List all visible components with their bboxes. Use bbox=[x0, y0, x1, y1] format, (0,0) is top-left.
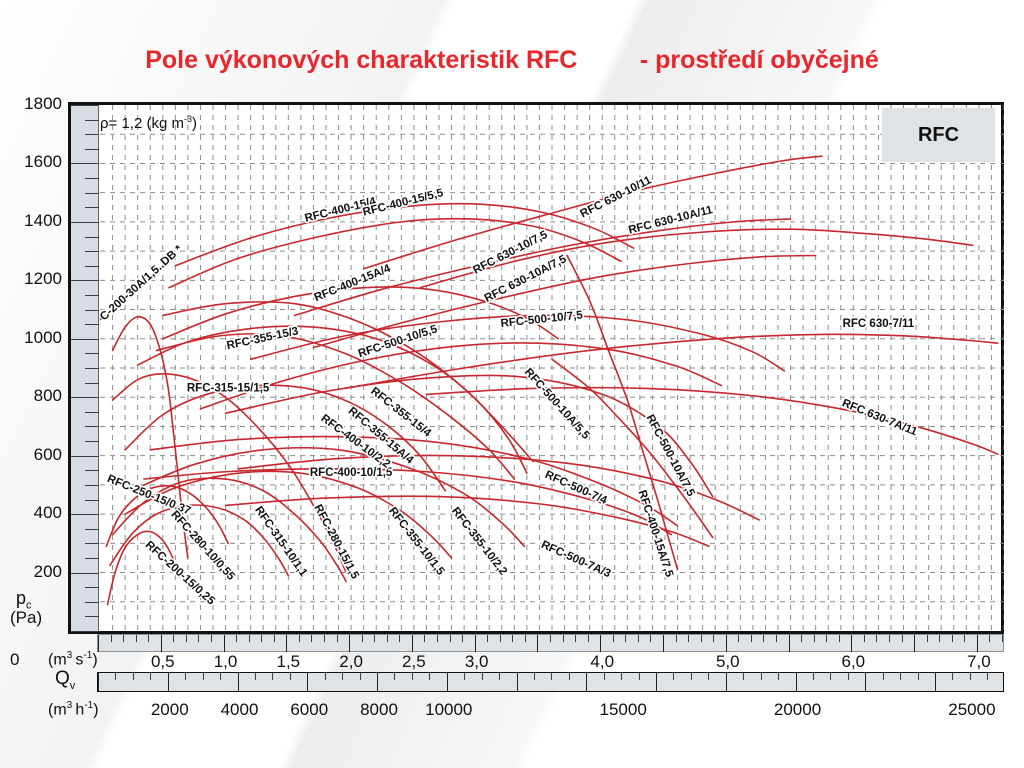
y-axis-tick bbox=[85, 295, 99, 296]
curve-label-text: RFC-355-10/2,2 bbox=[449, 505, 509, 577]
x-axis-tick bbox=[274, 635, 275, 642]
y-tick-label: 1600 bbox=[6, 152, 62, 172]
qv-axis-tick bbox=[551, 673, 552, 680]
x-axis-tick bbox=[864, 635, 865, 642]
qv-tick-label: 20000 bbox=[774, 700, 821, 720]
y-axis-zero: 0 bbox=[10, 650, 19, 670]
x-axis-tick bbox=[738, 635, 739, 642]
x-axis-tick bbox=[889, 635, 890, 642]
y-axis-tick bbox=[85, 426, 99, 427]
x-axis-tick bbox=[613, 635, 614, 642]
x-tick-label: 4,0 bbox=[590, 652, 614, 672]
x-axis-tick bbox=[952, 635, 953, 642]
x-axis-tick bbox=[588, 635, 589, 642]
x-tick-label: 6,0 bbox=[842, 652, 866, 672]
x-axis-tick bbox=[500, 635, 501, 642]
x-axis-tick bbox=[349, 635, 350, 652]
qv-axis-tick bbox=[168, 673, 169, 691]
x-axis-tick bbox=[763, 635, 764, 642]
y-axis-tick bbox=[71, 397, 99, 398]
y-tick-label: 800 bbox=[6, 386, 62, 406]
x-axis-tick bbox=[98, 635, 99, 652]
curve-label-text: RFC-500-10A/5,5 bbox=[522, 366, 592, 442]
rfc-badge: RFC bbox=[882, 108, 995, 162]
curve-label: RFC-500-7A/3RFC-500-7A/3 bbox=[539, 539, 612, 580]
x-axis-tick bbox=[751, 635, 752, 642]
x-axis-tick bbox=[324, 635, 325, 642]
qv-axis-tick bbox=[185, 673, 186, 680]
qv-axis-tick bbox=[569, 673, 570, 680]
qv-axis-tick bbox=[691, 673, 692, 680]
x-axis-tick bbox=[575, 635, 576, 642]
x-tick-label: 0,5 bbox=[151, 652, 175, 672]
qv-axis-tick bbox=[918, 673, 919, 680]
x-tick-label: 5,0 bbox=[716, 652, 740, 672]
x-axis-tick bbox=[111, 635, 112, 642]
x-axis-tick bbox=[261, 635, 262, 642]
x-axis-tick bbox=[1002, 635, 1003, 642]
qv-axis-tick bbox=[935, 673, 936, 691]
y-axis-tick bbox=[85, 207, 99, 208]
qv-axis-tick bbox=[255, 673, 256, 680]
y-axis-tick bbox=[85, 441, 99, 442]
x-axis-tick bbox=[914, 635, 915, 652]
y-axis-tick bbox=[85, 149, 99, 150]
x-axis-tick bbox=[625, 635, 626, 642]
x-axis-unit: (m3 s-1) bbox=[48, 650, 98, 669]
y-axis-scale-band bbox=[71, 105, 99, 631]
y-tick-label: 600 bbox=[6, 445, 62, 465]
x-axis-tick bbox=[964, 635, 965, 642]
y-axis-tick bbox=[85, 353, 99, 354]
y-axis-tick bbox=[85, 543, 99, 544]
curve-label-group: RFC-200-15/0,25RFC-200-15/0,25RFC-200-30… bbox=[100, 174, 919, 608]
x-tick-label: 2,5 bbox=[402, 652, 426, 672]
qv-axis-tick bbox=[464, 673, 465, 680]
qv-axis-tick bbox=[133, 673, 134, 680]
x-axis-tick bbox=[337, 635, 338, 642]
curve-label: RFC-355-10/2,2RFC-355-10/2,2 bbox=[449, 505, 509, 577]
x-axis-tick bbox=[424, 635, 425, 642]
y-axis-tick bbox=[85, 120, 99, 121]
y-axis-tick bbox=[85, 470, 99, 471]
x-axis-tick bbox=[801, 635, 802, 642]
qv-axis-tick bbox=[656, 673, 657, 691]
qv-tick-label: 2000 bbox=[151, 700, 189, 720]
x-axis-tick bbox=[286, 635, 287, 652]
y-axis-tick bbox=[85, 193, 99, 194]
qv-tick-label: 6000 bbox=[290, 700, 328, 720]
x-axis-tick bbox=[701, 635, 702, 642]
x-axis-tick bbox=[902, 635, 903, 642]
qv-axis-tick bbox=[290, 673, 291, 680]
qv-axis-tick bbox=[238, 673, 239, 691]
x-axis-tick bbox=[851, 635, 852, 652]
qv-axis-tick bbox=[360, 673, 361, 680]
qv-axis-tick bbox=[883, 673, 884, 680]
x-axis-tick bbox=[814, 635, 815, 642]
qv-axis-tick bbox=[325, 673, 326, 680]
qv-axis-tick bbox=[342, 673, 343, 680]
y-axis-tick bbox=[85, 134, 99, 135]
y-axis-tick bbox=[85, 602, 99, 603]
qv-axis-unit: (m3 h-1) bbox=[48, 700, 99, 719]
qv-axis-tick bbox=[604, 673, 605, 680]
qv-axis-tick bbox=[586, 673, 587, 691]
qv-tick-label: 25000 bbox=[948, 700, 995, 720]
performance-curve bbox=[157, 334, 515, 479]
qv-tick-label: 4000 bbox=[221, 700, 259, 720]
x-axis-tick bbox=[161, 635, 162, 652]
x-axis-tick bbox=[475, 635, 476, 652]
x-axis-tick bbox=[676, 635, 677, 642]
x-axis-tick bbox=[224, 635, 225, 652]
x-axis-tick bbox=[789, 635, 790, 652]
qv-axis-tick bbox=[970, 673, 971, 680]
curve-label: RFC 630-7/11RFC 630-7/11 bbox=[843, 318, 915, 330]
y-axis-tick bbox=[85, 587, 99, 588]
qv-tick-label: 8000 bbox=[360, 700, 398, 720]
y-axis-tick bbox=[85, 324, 99, 325]
x-axis-tick bbox=[311, 635, 312, 642]
x-axis-tick bbox=[123, 635, 124, 642]
qv-axis-tick bbox=[761, 673, 762, 680]
y-axis-tick bbox=[71, 514, 99, 515]
x-axis-tick bbox=[299, 635, 300, 642]
qv-axis-tick bbox=[987, 673, 988, 680]
y-axis-tick bbox=[85, 310, 99, 311]
curve-label-text: RFC 630-7/11 bbox=[843, 318, 915, 330]
qv-axis-tick bbox=[272, 673, 273, 680]
x-axis-tick bbox=[173, 635, 174, 642]
y-axis-tick bbox=[85, 368, 99, 369]
x-axis-tick bbox=[211, 635, 212, 642]
y-tick-label: 1800 bbox=[6, 94, 62, 114]
qv-axis-tick bbox=[952, 673, 953, 680]
curve-label: RFC 630-7A/11RFC 630-7A/11 bbox=[840, 397, 919, 438]
x-axis-tick bbox=[249, 635, 250, 642]
x-axis-tick bbox=[374, 635, 375, 642]
x-axis-tick bbox=[387, 635, 388, 642]
performance-chart: RFC-200-15/0,25RFC-200-15/0,25RFC-200-30… bbox=[68, 102, 1004, 634]
y-tick-label: 200 bbox=[6, 562, 62, 582]
density-annotation: ρ= 1,2 (kg m-3) bbox=[100, 114, 197, 132]
qv-axis-title: Qv bbox=[55, 668, 75, 692]
x-tick-label: 3,0 bbox=[465, 652, 489, 672]
qv-axis-tick bbox=[830, 673, 831, 680]
page-title: Pole výkonových charakteristik RFC - pro… bbox=[0, 46, 1024, 75]
x-axis-tick bbox=[638, 635, 639, 642]
curve-label-text: RFC-315-15/1,5 bbox=[187, 382, 270, 394]
x-axis-tick bbox=[186, 635, 187, 642]
x-axis-tick bbox=[412, 635, 413, 652]
qv-axis-tick bbox=[203, 673, 204, 680]
x-axis-scale-band bbox=[97, 634, 1004, 652]
x-axis-tick bbox=[512, 635, 513, 642]
qv-axis-tick bbox=[796, 673, 797, 691]
qv-axis-tick bbox=[394, 673, 395, 680]
x-axis-tick bbox=[650, 635, 651, 642]
x-axis-tick bbox=[939, 635, 940, 642]
x-axis-tick bbox=[688, 635, 689, 642]
x-axis-tick bbox=[450, 635, 451, 642]
y-axis-tick bbox=[71, 631, 99, 632]
x-axis-tick bbox=[525, 635, 526, 642]
x-tick-label: 2,0 bbox=[339, 652, 363, 672]
qv-axis-tick bbox=[726, 673, 727, 691]
x-axis-tick bbox=[713, 635, 714, 642]
x-axis-tick bbox=[537, 635, 538, 652]
x-axis-tick bbox=[236, 635, 237, 642]
y-axis-unit: (Pa) bbox=[10, 608, 42, 628]
qv-axis-tick bbox=[115, 673, 116, 680]
y-axis-tick bbox=[71, 573, 99, 574]
x-axis-tick bbox=[977, 635, 978, 652]
x-tick-label: 7,0 bbox=[967, 652, 991, 672]
x-axis-tick bbox=[437, 635, 438, 642]
qv-axis-tick bbox=[98, 673, 99, 691]
qv-axis-tick bbox=[150, 673, 151, 680]
x-axis-tick bbox=[663, 635, 664, 652]
x-axis-tick bbox=[550, 635, 551, 642]
y-axis-tick bbox=[85, 251, 99, 252]
x-axis-tick bbox=[600, 635, 601, 652]
qv-axis-tick bbox=[865, 673, 866, 691]
y-axis-tick bbox=[85, 383, 99, 384]
qv-axis-tick bbox=[517, 673, 518, 691]
curve-label: RFC-315-15/1,5RFC-315-15/1,5 bbox=[187, 382, 270, 394]
curves-svg: RFC-200-15/0,25RFC-200-15/0,25RFC-200-30… bbox=[100, 105, 1004, 631]
x-axis-tick bbox=[876, 635, 877, 642]
x-axis-tick bbox=[927, 635, 928, 642]
y-axis-tick bbox=[85, 529, 99, 530]
qv-axis-tick bbox=[220, 673, 221, 680]
x-tick-label: 1,0 bbox=[214, 652, 238, 672]
y-axis-tick bbox=[71, 456, 99, 457]
qv-axis-tick bbox=[377, 673, 378, 691]
plot-area: RFC-200-15/0,25RFC-200-15/0,25RFC-200-30… bbox=[100, 105, 1004, 631]
y-axis-tick bbox=[85, 237, 99, 238]
x-axis-tick bbox=[399, 635, 400, 642]
qv-axis-tick bbox=[307, 673, 308, 691]
y-axis-tick bbox=[85, 616, 99, 617]
y-axis-tick bbox=[71, 339, 99, 340]
qv-tick-label: 15000 bbox=[600, 700, 647, 720]
curve-label-text: RFC-400-10/1,5 bbox=[310, 467, 393, 479]
y-tick-label: 1000 bbox=[6, 328, 62, 348]
qv-axis-tick bbox=[499, 673, 500, 680]
qv-axis-tick bbox=[708, 673, 709, 680]
y-axis-tick bbox=[85, 558, 99, 559]
qv-axis-tick bbox=[639, 673, 640, 680]
x-axis-tick bbox=[563, 635, 564, 642]
y-axis-tick bbox=[71, 105, 99, 106]
x-axis-tick bbox=[989, 635, 990, 642]
x-axis-tick bbox=[148, 635, 149, 642]
y-axis-tick bbox=[71, 163, 99, 164]
x-axis-tick bbox=[362, 635, 363, 642]
qv-axis-tick bbox=[778, 673, 779, 680]
curve-label-text: RFC-500-7A/3 bbox=[539, 539, 612, 580]
qv-axis-tick bbox=[813, 673, 814, 680]
x-axis-tick bbox=[839, 635, 840, 642]
qv-axis-tick bbox=[429, 673, 430, 680]
curve-label-text: RFC 630-7A/11 bbox=[840, 397, 919, 438]
y-tick-label: 1400 bbox=[6, 211, 62, 231]
qv-axis-tick bbox=[412, 673, 413, 680]
x-axis-tick bbox=[776, 635, 777, 642]
performance-curve bbox=[567, 255, 677, 569]
x-axis-tick bbox=[826, 635, 827, 642]
y-axis-tick bbox=[85, 178, 99, 179]
qv-tick-label: 10000 bbox=[425, 700, 472, 720]
y-axis-tick bbox=[71, 222, 99, 223]
y-axis-tick bbox=[85, 266, 99, 267]
qv-axis-tick bbox=[743, 673, 744, 680]
y-tick-label: 400 bbox=[6, 503, 62, 523]
x-axis-tick bbox=[487, 635, 488, 642]
y-axis-tick bbox=[71, 280, 99, 281]
qv-axis-tick bbox=[848, 673, 849, 680]
qv-axis-scale-band bbox=[97, 672, 1004, 692]
qv-axis-tick bbox=[482, 673, 483, 680]
y-axis-tick bbox=[85, 485, 99, 486]
x-tick-label: 1,5 bbox=[277, 652, 301, 672]
curve-label: RFC-500-10A/5,5RFC-500-10A/5,5 bbox=[522, 366, 592, 442]
y-axis-tick bbox=[85, 500, 99, 501]
x-axis-tick bbox=[198, 635, 199, 642]
x-axis-tick bbox=[462, 635, 463, 642]
performance-curve bbox=[345, 334, 998, 388]
performance-curve bbox=[106, 486, 228, 546]
y-axis-tick bbox=[85, 412, 99, 413]
y-tick-label: 1200 bbox=[6, 269, 62, 289]
x-axis-tick bbox=[726, 635, 727, 652]
qv-axis-tick bbox=[673, 673, 674, 680]
curve-label: RFC-400-10/1,5RFC-400-10/1,5 bbox=[310, 467, 393, 479]
qv-axis-tick bbox=[900, 673, 901, 680]
qv-axis-tick bbox=[447, 673, 448, 691]
qv-axis-tick bbox=[621, 673, 622, 680]
x-axis-tick bbox=[136, 635, 137, 642]
qv-axis-tick bbox=[534, 673, 535, 680]
